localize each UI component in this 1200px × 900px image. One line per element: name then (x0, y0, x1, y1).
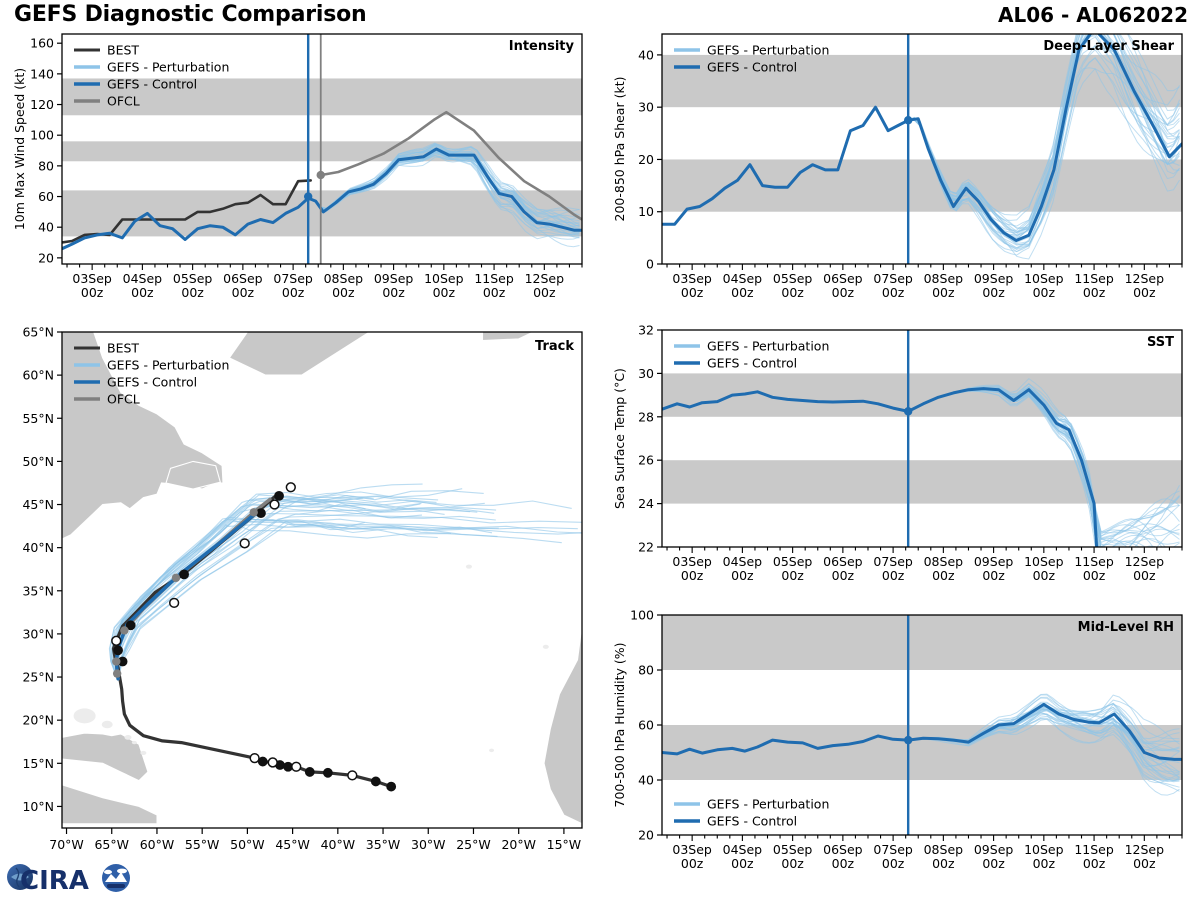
x-tick-hour: 00z (832, 568, 855, 583)
lon-tick-label: 55°W (185, 837, 220, 852)
lon-tick-label: 70°W (49, 837, 84, 852)
legend-label: GEFS - Perturbation (107, 60, 229, 75)
y-tick-label: 28 (638, 409, 654, 424)
y-axis-label: 200-850 hPa Shear (kt) (612, 77, 627, 222)
x-tick-label: 12Sep (1125, 842, 1165, 857)
island (74, 708, 96, 723)
lon-tick-label: 25°W (456, 837, 491, 852)
x-tick-label: 10Sep (1024, 554, 1064, 569)
x-tick-hour: 00z (1133, 568, 1156, 583)
lat-tick-label: 10°N (22, 799, 54, 814)
x-tick-label: 09Sep (374, 271, 414, 286)
lat-tick-label: 45°N (22, 497, 54, 512)
x-tick-label: 12Sep (1125, 271, 1165, 286)
lon-tick-label: 40°W (321, 837, 356, 852)
y-tick-label: 100 (30, 128, 54, 143)
panel-title: Mid-Level RH (1078, 620, 1174, 635)
y-tick-label: 80 (638, 663, 654, 678)
legend-label: GEFS - Perturbation (707, 43, 829, 58)
lat-tick-label: 30°N (22, 626, 54, 641)
legend-label: GEFS - Perturbation (707, 797, 829, 812)
lon-tick-label: 15°W (547, 837, 582, 852)
cira-logo: CIRA (4, 858, 136, 898)
legend-label: GEFS - Control (107, 77, 197, 92)
x-tick-label: 04Sep (723, 842, 763, 857)
x-tick-hour: 00z (731, 285, 754, 300)
x-tick-hour: 00z (1133, 856, 1156, 871)
x-tick-hour: 00z (781, 568, 804, 583)
shaded-band (662, 725, 1182, 780)
track-marker-filled (257, 509, 266, 518)
x-tick-label: 06Sep (823, 554, 863, 569)
x-tick-hour: 00z (882, 285, 905, 300)
y-tick-label: 160 (30, 36, 54, 51)
lon-tick-label: 60°W (140, 837, 175, 852)
x-tick-hour: 00z (1083, 568, 1106, 583)
track-marker-open (286, 483, 295, 492)
y-axis-label: 700-500 hPa Humidity (%) (612, 642, 627, 807)
lon-tick-label: 35°W (366, 837, 401, 852)
x-tick-hour: 00z (882, 568, 905, 583)
track-marker-open (112, 636, 121, 645)
x-tick-hour: 00z (932, 568, 955, 583)
track-marker-open (348, 771, 357, 780)
x-tick-label: 07Sep (873, 554, 913, 569)
legend-label: GEFS - Perturbation (707, 339, 829, 354)
x-tick-label: 06Sep (823, 842, 863, 857)
x-tick-hour: 00z (433, 285, 456, 300)
lat-tick-label: 40°N (22, 540, 54, 555)
lon-tick-label: 30°W (411, 837, 446, 852)
x-tick-label: 06Sep (823, 271, 863, 286)
x-tick-label: 05Sep (173, 271, 213, 286)
lon-tick-label: 45°W (275, 837, 310, 852)
x-tick-label: 11Sep (1074, 554, 1114, 569)
x-tick-label: 04Sep (123, 271, 163, 286)
panel-title: Deep-Layer Shear (1043, 39, 1174, 54)
panel-title: Intensity (509, 39, 575, 54)
lon-tick-label: 65°W (94, 837, 129, 852)
y-tick-label: 22 (638, 540, 654, 555)
ofcl-track-marker (120, 626, 128, 634)
x-tick-label: 11Sep (1074, 271, 1114, 286)
x-tick-label: 09Sep (974, 271, 1014, 286)
x-tick-hour: 00z (1033, 285, 1056, 300)
x-tick-label: 03Sep (672, 271, 712, 286)
shaded-band (662, 159, 1182, 211)
island (489, 749, 494, 752)
x-tick-hour: 00z (232, 285, 255, 300)
x-tick-hour: 00z (81, 285, 104, 300)
x-tick-label: 05Sep (773, 271, 813, 286)
track-marker-open (268, 758, 277, 767)
shaded-band (62, 141, 582, 161)
y-tick-label: 30 (638, 366, 654, 381)
x-tick-label: 09Sep (974, 554, 1014, 569)
y-tick-label: 20 (638, 152, 654, 167)
x-tick-hour: 00z (932, 285, 955, 300)
lat-tick-label: 65°N (22, 325, 54, 340)
legend-label: OFCL (107, 392, 140, 407)
island (102, 721, 113, 728)
y-axis-label: 10m Max Wind Speed (kt) (12, 68, 27, 230)
y-tick-label: 60 (638, 718, 654, 733)
x-tick-hour: 00z (681, 856, 704, 871)
track-marker-filled (305, 768, 314, 777)
x-tick-label: 05Sep (773, 554, 813, 569)
x-tick-hour: 00z (681, 285, 704, 300)
track-panel: 10°N15°N20°N25°N30°N35°N40°N45°N50°N55°N… (0, 320, 600, 880)
track-marker-open (240, 539, 249, 548)
y-axis-label: Sea Surface Temp (°C) (612, 368, 627, 509)
x-tick-hour: 00z (781, 856, 804, 871)
x-tick-label: 08Sep (924, 842, 964, 857)
lat-tick-label: 50°N (22, 454, 54, 469)
x-tick-hour: 00z (1083, 285, 1106, 300)
y-tick-label: 40 (38, 220, 54, 235)
x-tick-label: 07Sep (873, 842, 913, 857)
sst-panel: 222426283032Sea Surface Temp (°C)03Sep00… (600, 320, 1200, 605)
track-marker-open (270, 500, 279, 509)
x-tick-label: 10Sep (424, 271, 464, 286)
legend-label: BEST (107, 43, 139, 58)
x-tick-label: 11Sep (474, 271, 514, 286)
x-tick-label: 07Sep (273, 271, 313, 286)
x-tick-hour: 00z (533, 285, 556, 300)
track-marker-filled (180, 570, 189, 579)
x-tick-hour: 00z (1083, 856, 1106, 871)
x-tick-hour: 00z (982, 856, 1005, 871)
ofcl-track-marker (172, 574, 180, 582)
x-tick-hour: 00z (131, 285, 154, 300)
x-tick-hour: 00z (483, 285, 506, 300)
y-tick-label: 140 (30, 66, 54, 81)
x-tick-hour: 00z (982, 568, 1005, 583)
lon-tick-label: 50°W (230, 837, 265, 852)
legend-label: OFCL (107, 94, 140, 109)
x-tick-hour: 00z (181, 285, 204, 300)
x-tick-label: 03Sep (72, 271, 112, 286)
y-tick-label: 10 (638, 204, 654, 219)
x-tick-label: 04Sep (723, 271, 763, 286)
x-tick-label: 12Sep (1125, 554, 1165, 569)
x-tick-label: 03Sep (672, 554, 712, 569)
panel-title: SST (1147, 335, 1174, 350)
x-tick-hour: 00z (731, 856, 754, 871)
ofcl-track-marker (112, 657, 120, 665)
lat-tick-label: 20°N (22, 713, 54, 728)
intensity-panel: 2040608010012014016010m Max Wind Speed (… (0, 22, 600, 322)
ofcl-init-marker (317, 171, 325, 179)
svg-text:CIRA: CIRA (20, 866, 89, 896)
x-tick-label: 03Sep (672, 842, 712, 857)
x-tick-hour: 00z (731, 568, 754, 583)
track-marker-open (250, 754, 259, 763)
x-tick-hour: 00z (1033, 568, 1056, 583)
lat-tick-label: 35°N (22, 583, 54, 598)
track-marker-filled (275, 491, 284, 500)
shaded-band (662, 460, 1182, 503)
x-tick-hour: 00z (832, 856, 855, 871)
track-marker-filled (371, 777, 380, 786)
x-tick-label: 07Sep (873, 271, 913, 286)
x-tick-hour: 00z (781, 285, 804, 300)
x-tick-label: 11Sep (1074, 842, 1114, 857)
ofcl-track-marker (113, 669, 121, 677)
x-tick-hour: 00z (882, 856, 905, 871)
legend-label: GEFS - Perturbation (107, 358, 229, 373)
y-tick-label: 60 (38, 189, 54, 204)
panel-title: Track (535, 339, 574, 354)
y-tick-label: 120 (30, 97, 54, 112)
lat-tick-label: 55°N (22, 411, 54, 426)
legend-label: GEFS - Control (707, 356, 797, 371)
init-marker (904, 407, 912, 415)
x-tick-hour: 00z (932, 856, 955, 871)
lat-tick-label: 25°N (22, 670, 54, 685)
y-tick-label: 32 (638, 323, 654, 338)
rh-panel: 20406080100700-500 hPa Humidity (%)03Sep… (600, 603, 1200, 893)
x-tick-label: 04Sep (723, 554, 763, 569)
x-tick-label: 08Sep (924, 271, 964, 286)
track-marker-filled (114, 646, 123, 655)
track-marker-open (292, 762, 301, 771)
island (543, 645, 549, 649)
init-marker (304, 192, 312, 200)
island (140, 751, 146, 755)
legend-label: BEST (107, 341, 139, 356)
lat-tick-label: 15°N (22, 756, 54, 771)
y-tick-label: 20 (638, 828, 654, 843)
x-tick-hour: 00z (282, 285, 305, 300)
track-marker-open (170, 598, 179, 607)
legend-label: GEFS - Control (707, 814, 797, 829)
island (125, 735, 132, 740)
legend-label: GEFS - Control (707, 60, 797, 75)
y-tick-label: 30 (638, 100, 654, 115)
x-tick-label: 05Sep (773, 842, 813, 857)
lat-tick-label: 60°N (22, 368, 54, 383)
y-tick-label: 40 (638, 773, 654, 788)
x-tick-label: 10Sep (1024, 842, 1064, 857)
track-marker-filled (323, 768, 332, 777)
y-tick-label: 24 (638, 496, 654, 511)
x-tick-label: 08Sep (924, 554, 964, 569)
x-tick-label: 06Sep (223, 271, 263, 286)
init-marker (904, 116, 912, 124)
track-marker-filled (387, 782, 396, 791)
y-tick-label: 0 (646, 257, 654, 272)
y-tick-label: 80 (38, 158, 54, 173)
y-tick-label: 100 (630, 608, 654, 623)
y-tick-label: 26 (638, 453, 654, 468)
x-tick-label: 09Sep (974, 842, 1014, 857)
ofcl-track-marker (250, 508, 258, 516)
x-tick-hour: 00z (982, 285, 1005, 300)
x-tick-hour: 00z (832, 285, 855, 300)
legend-label: GEFS - Control (107, 375, 197, 390)
lon-tick-label: 20°W (501, 837, 536, 852)
x-tick-label: 10Sep (1024, 271, 1064, 286)
x-tick-hour: 00z (1133, 285, 1156, 300)
y-tick-label: 20 (38, 250, 54, 265)
init-marker (904, 736, 912, 744)
shear-panel: 010203040200-850 hPa Shear (kt)03Sep00z0… (600, 22, 1200, 322)
x-tick-hour: 00z (1033, 856, 1056, 871)
x-tick-hour: 00z (382, 285, 405, 300)
x-tick-label: 12Sep (525, 271, 565, 286)
x-tick-label: 08Sep (324, 271, 364, 286)
y-tick-label: 40 (638, 47, 654, 62)
island (132, 741, 137, 744)
x-tick-hour: 00z (332, 285, 355, 300)
x-tick-hour: 00z (681, 568, 704, 583)
island (466, 565, 472, 569)
